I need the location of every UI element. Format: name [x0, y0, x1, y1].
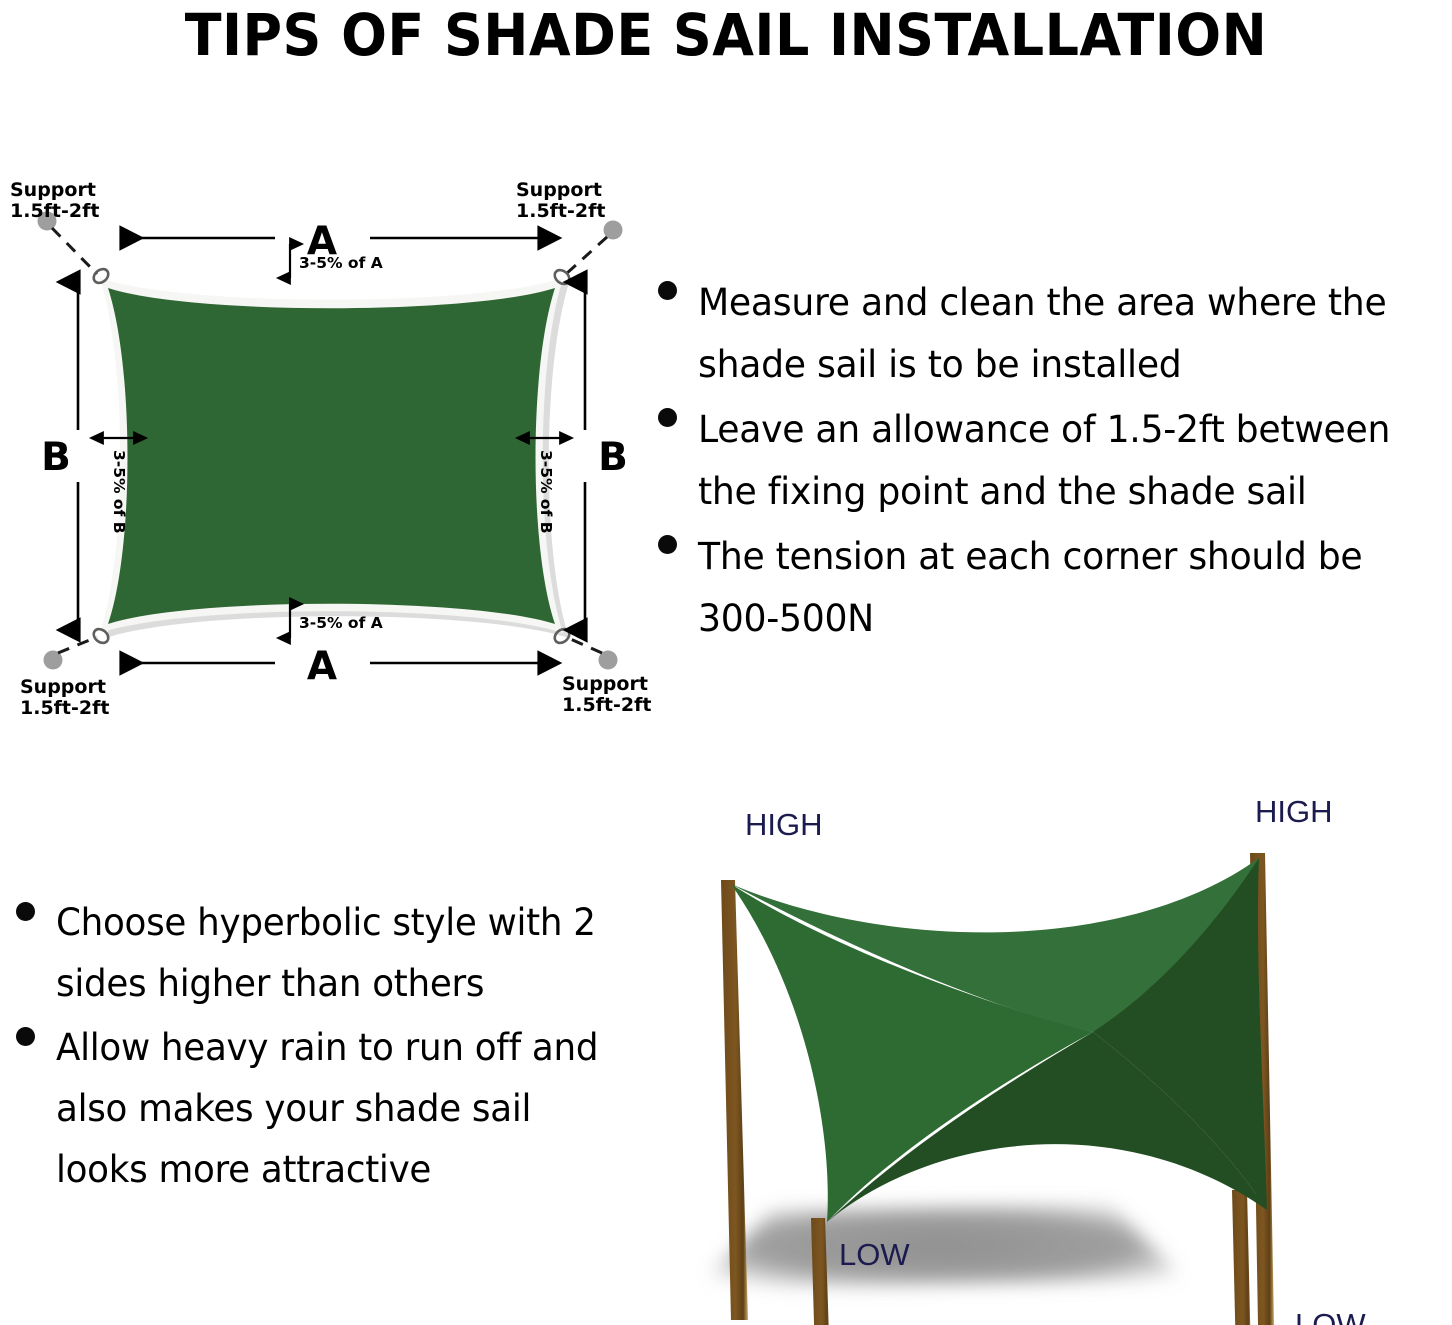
dimension-label-b-left: B [41, 435, 71, 480]
post-far-left [721, 880, 748, 1320]
post-label-high-left: HIGH [745, 807, 823, 842]
list-item: The tension at each corner should be 300… [642, 526, 1452, 649]
svg-text:Support: Support [20, 676, 106, 698]
bullet-dot-icon [658, 281, 677, 300]
dimension-a-bottom: A [122, 644, 540, 689]
post-label-low-left: LOW [839, 1237, 910, 1272]
installation-tips-panel: Measure and clean the area where the sha… [642, 272, 1452, 653]
rectangular-sail-diagram: A 3-5% of A A 3-5% of A B 3-5% of B [0, 160, 660, 740]
dimension-label-b-right: B [598, 435, 628, 480]
curvature-label-left: 3-5% of B [110, 450, 128, 534]
support-label-bottom-right: Support 1.5ft-2ft [562, 673, 651, 716]
installation-tips-list: Measure and clean the area where the sha… [642, 272, 1452, 649]
ground-shadow [697, 1204, 1185, 1288]
curvature-label-right: 3-5% of B [537, 450, 555, 534]
tip-text: Measure and clean the area where the sha… [698, 272, 1428, 395]
bullet-dot-icon [658, 408, 677, 427]
hyperbolic-tips-list: Choose hyperbolic style with 2 sides hig… [0, 893, 636, 1200]
support-label-bottom-left: Support 1.5ft-2ft [20, 676, 109, 719]
svg-text:1.5ft-2ft: 1.5ft-2ft [516, 200, 605, 222]
sail-body [108, 288, 555, 624]
svg-text:1.5ft-2ft: 1.5ft-2ft [10, 200, 99, 222]
dimension-label-a-bottom: A [307, 644, 337, 689]
dimension-b-right: B [585, 282, 628, 630]
post-label-low-right: LOW [1295, 1307, 1366, 1325]
post-near-right [1232, 1190, 1252, 1325]
bullet-dot-icon [16, 902, 35, 921]
tip-text: Choose hyperbolic style with 2 sides hig… [56, 893, 616, 1014]
dimension-b-left: B [41, 282, 78, 630]
tip-text: Leave an allowance of 1.5-2ft between th… [698, 399, 1428, 522]
page-title: TIPS OF SHADE SAIL INSTALLATION [0, 0, 1452, 70]
svg-text:Support: Support [516, 179, 602, 201]
list-item: Leave an allowance of 1.5-2ft between th… [642, 399, 1452, 522]
bullet-dot-icon [658, 535, 677, 554]
page-title-text: TIPS OF SHADE SAIL INSTALLATION [185, 6, 1267, 64]
svg-text:1.5ft-2ft: 1.5ft-2ft [562, 694, 651, 716]
list-item: Choose hyperbolic style with 2 sides hig… [0, 893, 636, 1014]
list-item: Allow heavy rain to run off and also mak… [0, 1018, 636, 1200]
hyperbolic-sail-diagram: HIGH HIGH LOW LOW [655, 780, 1452, 1325]
tip-text: Allow heavy rain to run off and also mak… [56, 1018, 616, 1200]
curvature-label-top: 3-5% of A [299, 254, 383, 272]
hyperbolic-tips-panel: Choose hyperbolic style with 2 sides hig… [0, 893, 636, 1204]
bullet-dot-icon [16, 1027, 35, 1046]
svg-text:Support: Support [10, 179, 96, 201]
support-label-top-right: Support 1.5ft-2ft [516, 179, 605, 222]
svg-text:1.5ft-2ft: 1.5ft-2ft [20, 697, 109, 719]
curvature-label-bottom: 3-5% of A [299, 614, 383, 632]
support-label-top-left: Support 1.5ft-2ft [10, 179, 99, 222]
list-item: Measure and clean the area where the sha… [642, 272, 1452, 395]
svg-text:Support: Support [562, 673, 648, 695]
post-label-high-right: HIGH [1255, 794, 1333, 829]
tip-text: The tension at each corner should be 300… [698, 526, 1428, 649]
